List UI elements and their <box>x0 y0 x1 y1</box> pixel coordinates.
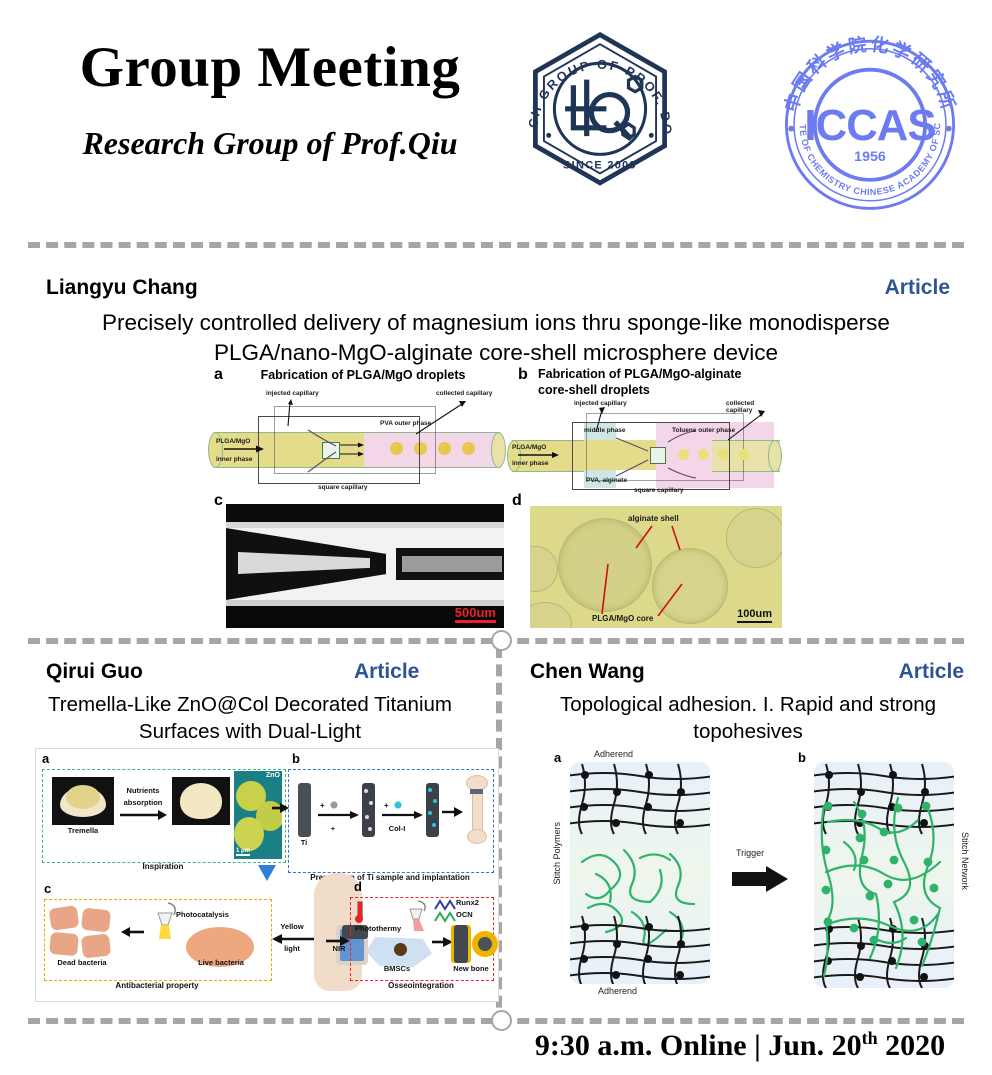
panel-d-label-plga-mgo-core: PLGA/MgO core <box>592 614 653 623</box>
panel-b-bone-graphic <box>464 775 488 843</box>
panel-b-heading-line2: core-shell droplets <box>538 383 782 398</box>
panel-a-label-pva-outer-phase: PVA outer phase <box>380 420 431 427</box>
presenter-name: Chen Wang <box>530 660 645 684</box>
panel-a-label-zno: ZnO <box>266 772 280 779</box>
panel-a-label-inner-phase: inner phase <box>216 456 252 463</box>
panel-b-label-square-capillary: square capillary <box>634 487 684 494</box>
footer-date-year: 2020 <box>885 1029 945 1062</box>
panel-d-thermometer <box>354 901 364 925</box>
logo-since-text: SINCE 2009 <box>563 160 637 172</box>
panel-letter-a: a <box>214 366 223 384</box>
panel-letter-b: b <box>292 751 300 766</box>
page-title: Group Meeting <box>55 38 485 98</box>
paper-title-line1: Topological adhesion. I. Rapid and stron… <box>528 692 968 719</box>
panel-b-diagram: injected capillary collected capillary m… <box>512 400 780 494</box>
trigger-label: Trigger <box>736 848 764 858</box>
panel-b-network <box>814 762 954 988</box>
panel-a-diagram: injected capillary collected capillary P… <box>212 390 504 490</box>
paper-title: Precisely controlled delivery of magnesi… <box>76 308 916 368</box>
panel-letter-d: d <box>512 492 522 510</box>
talk-block-qirui-guo: Qirui Guo Article Tremella-Like ZnO@Col … <box>0 648 498 1006</box>
panel-a-label-stitch-polymers: Stitch Polymers <box>552 822 562 885</box>
panel-b-label-zno: + <box>318 825 348 834</box>
divider-node-top <box>491 630 512 651</box>
panel-letter-b: b <box>798 750 806 765</box>
panel-a-caption: Inspiration <box>42 862 284 871</box>
panel-c-label-dead-bacteria: Dead bacteria <box>44 959 120 968</box>
panel-d-label-photothermy: Photothermy <box>350 925 406 934</box>
logo-ring-text: RESEARCH GROUP OF PROF. DONG QIU <box>505 28 675 136</box>
divider-node-bottom <box>491 1010 512 1031</box>
panel-b-label-pva-alginate: PVA, alginate <box>586 477 627 484</box>
talk-block-chen-wang: Chen Wang Article Topological adhesion. … <box>500 648 992 1006</box>
status-badge: Article <box>899 660 964 684</box>
page-subtitle: Research Group of Prof.Qiu <box>55 126 485 161</box>
status-badge: Article <box>885 276 950 300</box>
logo-acronym: ICCAS <box>804 101 935 150</box>
panel-a-label-adherend-top: Adherend <box>594 749 633 759</box>
panel-b-label-injected-capillary: injected capillary <box>574 400 627 407</box>
panel-b-zno-rod <box>362 783 375 837</box>
panel-a-image-tremella <box>52 777 114 825</box>
panel-letter-a: a <box>554 750 561 765</box>
panel-d-label-runx2: Runx2 <box>456 899 490 908</box>
panel-d-micrograph: alginate shell PLGA/MgO core 100um <box>530 506 782 628</box>
iccas-logo: 中国科学院化学研究所 INSTITUTE OF CHEMISTRY CHINES… <box>775 22 965 220</box>
presenter-name: Liangyu Chang <box>46 276 198 300</box>
panel-letter-c: c <box>44 881 51 896</box>
panel-a-label-nutrients: Nutrients <box>118 787 168 796</box>
panel-c-micrograph: 500um <box>226 504 504 628</box>
paper-title-line2: PLGA/nano-MgO-alginate core-shell micros… <box>76 338 916 368</box>
panel-a-label-injected-capillary: injected capillary <box>266 390 319 397</box>
panel-c-label-light: light <box>272 945 312 954</box>
panel-c-lamp <box>148 901 182 941</box>
footer-date-prefix: Jun. 20 <box>768 1029 861 1062</box>
panel-a-heading: Fabrication of PLGA/MgO droplets <box>234 368 492 383</box>
panel-d-label-new-bone: New bone <box>446 965 496 974</box>
panel-letter-b: b <box>518 366 528 384</box>
paper-title-line2: Surfaces with Dual-Light <box>30 719 470 746</box>
panel-b-heading-line1: Fabrication of PLGA/MgO-alginate <box>538 367 782 382</box>
panel-b-label-toluene-outer-phase: Toluene outer phase <box>672 427 735 434</box>
panel-b-label-col-i: Col-I <box>382 825 412 834</box>
scale-bar-100um: 100um <box>737 609 772 624</box>
panel-b-label-ti: Ti <box>294 839 314 848</box>
panel-a-network <box>570 762 710 984</box>
panel-b-ti-rod <box>298 783 311 837</box>
presenter-name: Qirui Guo <box>46 660 143 684</box>
panel-letter-a: a <box>42 751 49 766</box>
paper-title-line1: Tremella-Like ZnO@Col Decorated Titanium <box>30 692 470 719</box>
panel-a-label-absorption: absorption <box>118 799 168 808</box>
title-block: Group Meeting Research Group of Prof.Qiu <box>55 38 485 161</box>
slide-root: Group Meeting Research Group of Prof.Qiu… <box>0 0 992 1075</box>
logo-year: 1956 <box>854 149 886 165</box>
panel-a-label-collected-capillary: collected capillary <box>436 390 492 397</box>
scale-bar-label: 500um <box>455 606 496 619</box>
panel-b-label-plga-mgo: PLGA/MgO <box>512 444 546 451</box>
panel-a-label-square-capillary: square capillary <box>318 484 368 491</box>
status-badge: Article <box>354 660 419 684</box>
paper-title: Tremella-Like ZnO@Col Decorated Titanium… <box>30 692 470 745</box>
panel-letter-d: d <box>354 879 362 894</box>
panel-b-label-collected-capillary: collected capillary <box>726 400 780 414</box>
panel-d-label-ocn: OCN <box>456 911 490 920</box>
footer-time: 9:30 a.m. <box>535 1029 652 1062</box>
panel-d-label-bmscs: BMSCs <box>372 965 422 974</box>
talk-block-liangyu-chang: Liangyu Chang Article Precisely controll… <box>0 248 992 633</box>
slide-header: Group Meeting Research Group of Prof.Qiu… <box>0 0 992 235</box>
panel-d-new-bone-rod <box>454 925 468 963</box>
paper-title-line1: Precisely controlled delivery of magnesi… <box>76 308 916 338</box>
panel-a-image-sem-zno: ZnO 1 μm <box>234 771 282 859</box>
panel-d-new-bone-ring <box>472 931 498 957</box>
figure-topological-adhesion: a Adherend <box>536 748 988 1000</box>
panel-b-label-middle-phase: middle phase <box>584 427 626 434</box>
panel-b-label-inner-phase: inner phase <box>512 460 548 467</box>
paper-title-line2: topohesives <box>528 719 968 746</box>
scale-bar-500um: 500um <box>455 606 496 623</box>
paper-title: Topological adhesion. I. Rapid and stron… <box>528 692 968 745</box>
research-group-prof-dong-qiu-logo: RESEARCH GROUP OF PROF. DONG QIU SINCE 2… <box>505 28 695 220</box>
panel-a-scale-bar: 1 μm <box>236 848 250 856</box>
panel-d-label-alginate-shell: alginate shell <box>628 514 679 523</box>
svg-text:+: + <box>384 801 389 810</box>
footer-mode: Online <box>660 1029 747 1062</box>
panel-a-label-plga-mgo: PLGA/MgO <box>216 438 250 445</box>
panel-b-col-rod <box>426 783 439 837</box>
panel-a-image-tremella-swollen <box>172 777 230 825</box>
panel-b-label-stitch-network: Stitch Network <box>960 832 970 890</box>
panel-c-label-photocatalysis: Photocatalysis <box>176 911 250 920</box>
svg-text:RESEARCH GROUP OF PROF. DONG Q: RESEARCH GROUP OF PROF. DONG QIU <box>505 28 675 136</box>
panel-d-caption: Osseointegration <box>350 981 492 990</box>
panel-c-label-live-bacteria: Live bacteria <box>184 959 258 968</box>
panel-a-label-adherend-bottom: Adherend <box>598 986 637 996</box>
panel-c-caption: Antibacterial property <box>44 981 270 990</box>
panel-a-label-tremella: Tremella <box>52 827 114 836</box>
meeting-time-footer: 9:30 a.m. Online | Jun. 20th 2020 <box>500 1028 980 1063</box>
footer-separator: | <box>754 1029 761 1062</box>
figure-zno-titanium: a Tremella Nutrients absorption ZnO 1 <box>35 748 499 1002</box>
svg-text:+: + <box>320 801 325 810</box>
figure-microfluidics: a Fabrication of PLGA/MgO droplets <box>212 366 782 628</box>
scale-bar-label: 100um <box>737 609 772 620</box>
panel-c-dead-bacteria <box>50 907 116 957</box>
panel-c-label-yellow: Yellow <box>272 923 312 932</box>
footer-date-sup: th <box>862 1028 878 1048</box>
panel-letter-c: c <box>214 492 223 510</box>
